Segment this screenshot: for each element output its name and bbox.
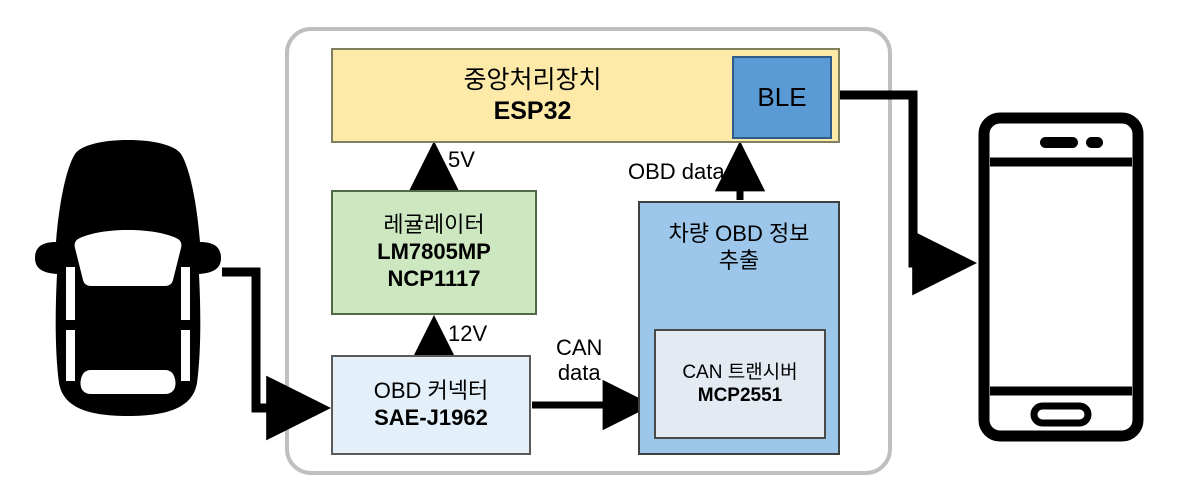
car-top-view-icon	[33, 138, 223, 418]
obd-extraction-block[interactable]: 차량 OBD 정보 추출 CAN 트랜시버 MCP2551	[638, 201, 840, 455]
regulator-label-line1: 레귤레이터	[383, 212, 484, 239]
ble-label: BLE	[757, 82, 806, 114]
mcu-label-line2: ESP32	[494, 96, 572, 127]
smartphone-icon	[978, 112, 1144, 442]
can-transceiver-label-line2: MCP2551	[698, 384, 783, 407]
mcu-block[interactable]: 중앙처리장치 ESP32 BLE	[331, 48, 840, 143]
regulator-label-line3: NCP1117	[388, 266, 481, 293]
obd-connector-label-line2: SAE-J1962	[374, 405, 488, 432]
ble-block[interactable]: BLE	[732, 56, 832, 139]
edge-label-can-data: CAN data	[556, 336, 602, 385]
edge-label-12v: 12V	[448, 322, 487, 347]
can-transceiver-label-line1: CAN 트랜시버	[682, 361, 797, 384]
regulator-label-line2: LM7805MP	[377, 239, 491, 266]
obd-extraction-label-line2: 추출	[719, 248, 759, 275]
can-transceiver-block[interactable]: CAN 트랜시버 MCP2551	[654, 329, 826, 439]
obd-connector-label-line1: OBD 커넥터	[374, 378, 489, 405]
edge-label-5v: 5V	[448, 148, 475, 173]
diagram-canvas: 중앙처리장치 ESP32 BLE 레귤레이터 LM7805MP NCP1117 …	[0, 0, 1181, 504]
regulator-block[interactable]: 레귤레이터 LM7805MP NCP1117	[331, 190, 537, 315]
edge-label-obd-data: OBD data	[628, 160, 725, 185]
obd-connector-block[interactable]: OBD 커넥터 SAE-J1962	[331, 355, 531, 455]
obd-extraction-label-line1: 차량 OBD 정보	[669, 221, 810, 248]
mcu-label-line1: 중앙처리장치	[463, 65, 601, 96]
